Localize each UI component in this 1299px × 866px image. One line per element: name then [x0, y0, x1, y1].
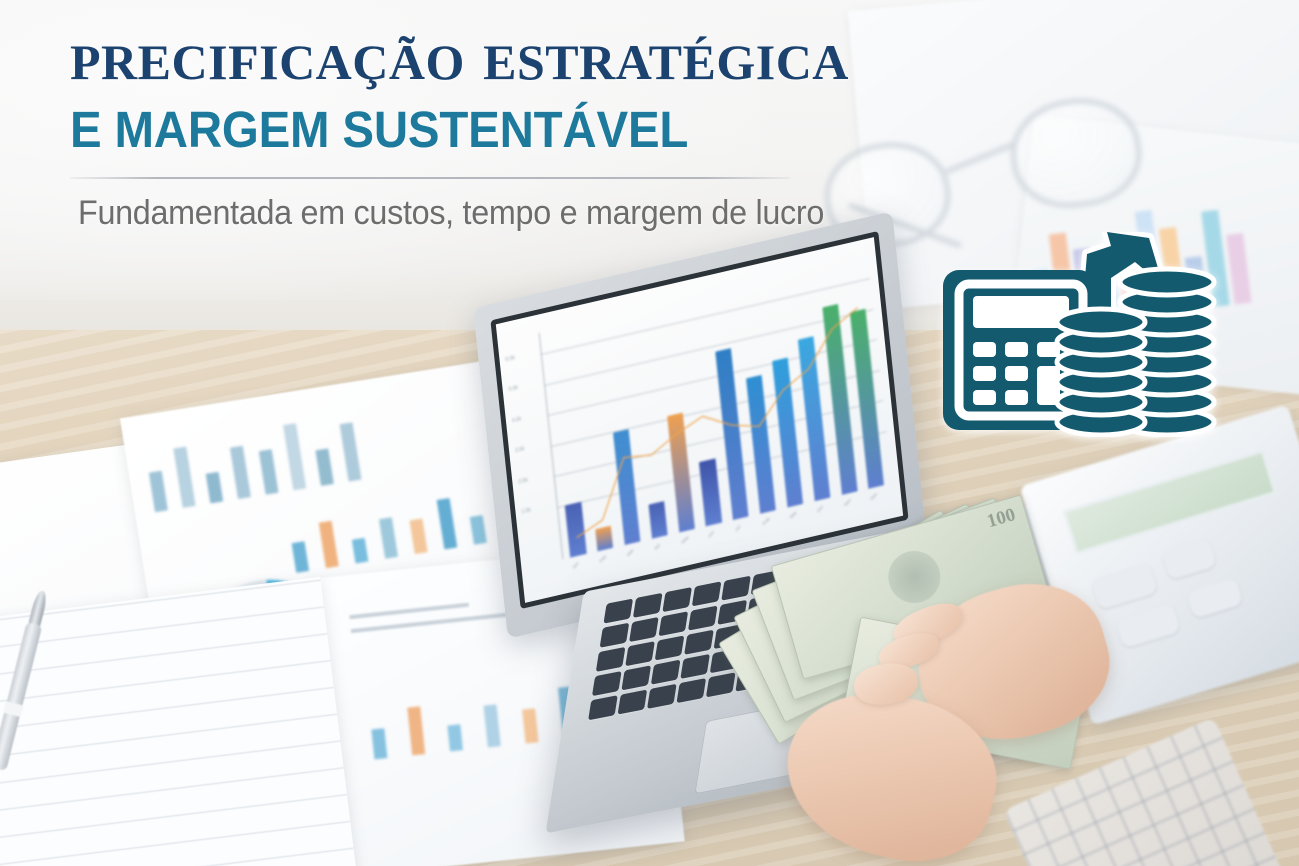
mini-bar: [206, 472, 224, 504]
coin-stack-front-icon: [1057, 309, 1145, 435]
mini-bar: [283, 423, 306, 490]
mini-bar: [340, 422, 362, 481]
keyboard-key: [692, 581, 722, 606]
mini-bar: [292, 541, 310, 573]
page-subtitle: Fundamentada em custos, tempo e margem d…: [78, 194, 925, 233]
keyboard-key: [603, 599, 633, 624]
keyboard-key: [688, 606, 718, 631]
keyboard-key: [600, 623, 630, 648]
keyboard-key: [676, 678, 706, 703]
keyboard-key: [633, 593, 663, 618]
keyboard-key: [621, 665, 651, 690]
icon-svg: [935, 232, 1225, 437]
calculator-coins-growth-icon: [935, 232, 1225, 437]
mini-bar: [259, 449, 279, 494]
keyboard-key: [618, 690, 648, 715]
coin: [1120, 269, 1214, 295]
mini-bar: [352, 538, 369, 564]
keyboard-key: [684, 630, 714, 655]
keyboard-key: [680, 654, 710, 679]
icon-group: [943, 232, 1214, 435]
mini-bar: [230, 446, 251, 499]
coin: [1057, 309, 1145, 335]
keyboard-key: [596, 647, 626, 672]
lined-notepad: [0, 577, 357, 866]
keyboard-key: [655, 635, 685, 660]
headline-divider: [70, 177, 790, 179]
keyboard-key: [662, 587, 692, 612]
calculator-display-icon: [973, 296, 1069, 328]
keyboard-key: [592, 671, 622, 696]
hands-counting-money: 100 100 100 100 100: [730, 520, 1190, 866]
mini-bar: [173, 447, 195, 508]
keyboard-key: [625, 641, 655, 666]
report2-text-line: [349, 603, 469, 620]
keyboard-key: [629, 617, 659, 642]
mini-bar: [149, 471, 168, 513]
keyboard-key: [651, 660, 681, 685]
bill-seal: [883, 545, 947, 609]
keyboard-key: [647, 684, 677, 709]
page-title-line-2: E MARGEM SUSTENTÁVEL: [70, 104, 907, 155]
keyboard-key: [659, 611, 689, 636]
mini-bar: [315, 448, 333, 486]
bill-denomination: 100: [985, 504, 1018, 533]
mini-bar: [319, 521, 339, 568]
report-bar-chart-top: [144, 405, 382, 512]
marketing-banner: 1.0k2.0k3.0k4.0k5.0k6.0kJanFebMarAprMayJ…: [0, 0, 1299, 866]
notepad-ruled-lines: [0, 577, 357, 866]
mini-bar: [371, 728, 387, 759]
mini-bar: [407, 706, 425, 755]
mini-bar: [409, 518, 427, 554]
keyboard-key: [588, 695, 618, 720]
eyeglass-lens-right: [1005, 91, 1147, 214]
page-title-line-1: Precificação Estratégica: [70, 22, 970, 92]
calculator-keys-icon: [973, 342, 1060, 405]
mini-bar: [379, 517, 398, 559]
pastel-bar: [1226, 233, 1251, 305]
headline-block: Precificação Estratégica E MARGEM SUSTEN…: [70, 22, 970, 233]
